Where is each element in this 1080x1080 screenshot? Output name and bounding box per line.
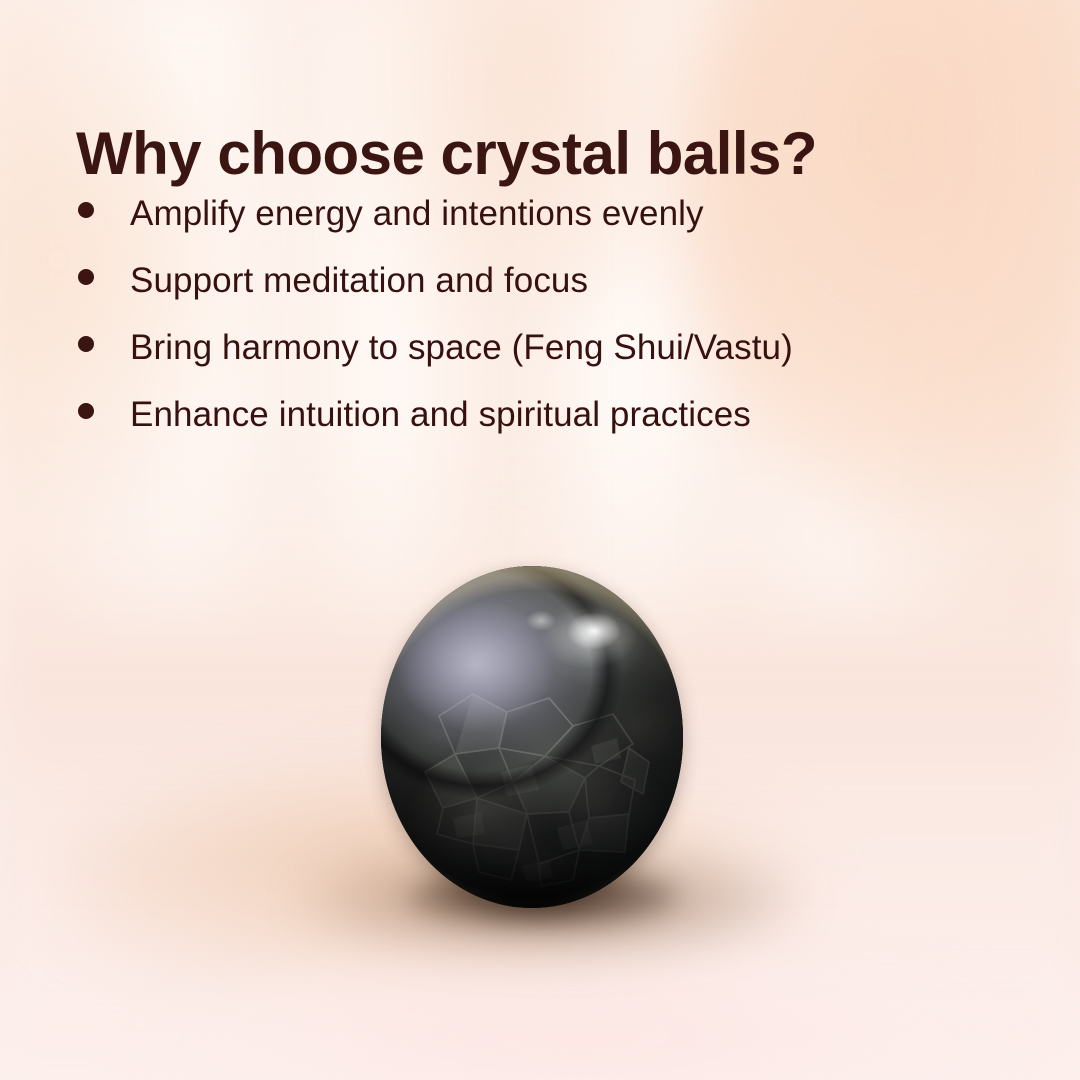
list-item: Enhance intuition and spiritual practice… [78, 393, 1038, 460]
bullet-dot-icon [78, 202, 94, 218]
sphere-bottom-contact [381, 566, 683, 908]
list-item: Bring harmony to space (Feng Shui/Vastu) [78, 326, 1038, 393]
bullet-dot-icon [78, 336, 94, 352]
crystal-ball-sphere [381, 566, 683, 908]
list-item: Amplify energy and intentions evenly [78, 192, 1038, 259]
list-item: Support meditation and focus [78, 259, 1038, 326]
list-item-label: Support meditation and focus [130, 259, 588, 303]
list-item-label: Amplify energy and intentions evenly [130, 192, 704, 236]
page-title: Why choose crystal balls? [76, 122, 1016, 186]
benefits-list: Amplify energy and intentions evenly Sup… [78, 192, 1038, 460]
marketing-graphic-canvas: Why choose crystal balls? Amplify energy… [0, 0, 1080, 1080]
bullet-dot-icon [78, 269, 94, 285]
bullet-dot-icon [78, 403, 94, 419]
list-item-label: Bring harmony to space (Feng Shui/Vastu) [130, 326, 793, 370]
list-item-label: Enhance intuition and spiritual practice… [130, 393, 751, 437]
